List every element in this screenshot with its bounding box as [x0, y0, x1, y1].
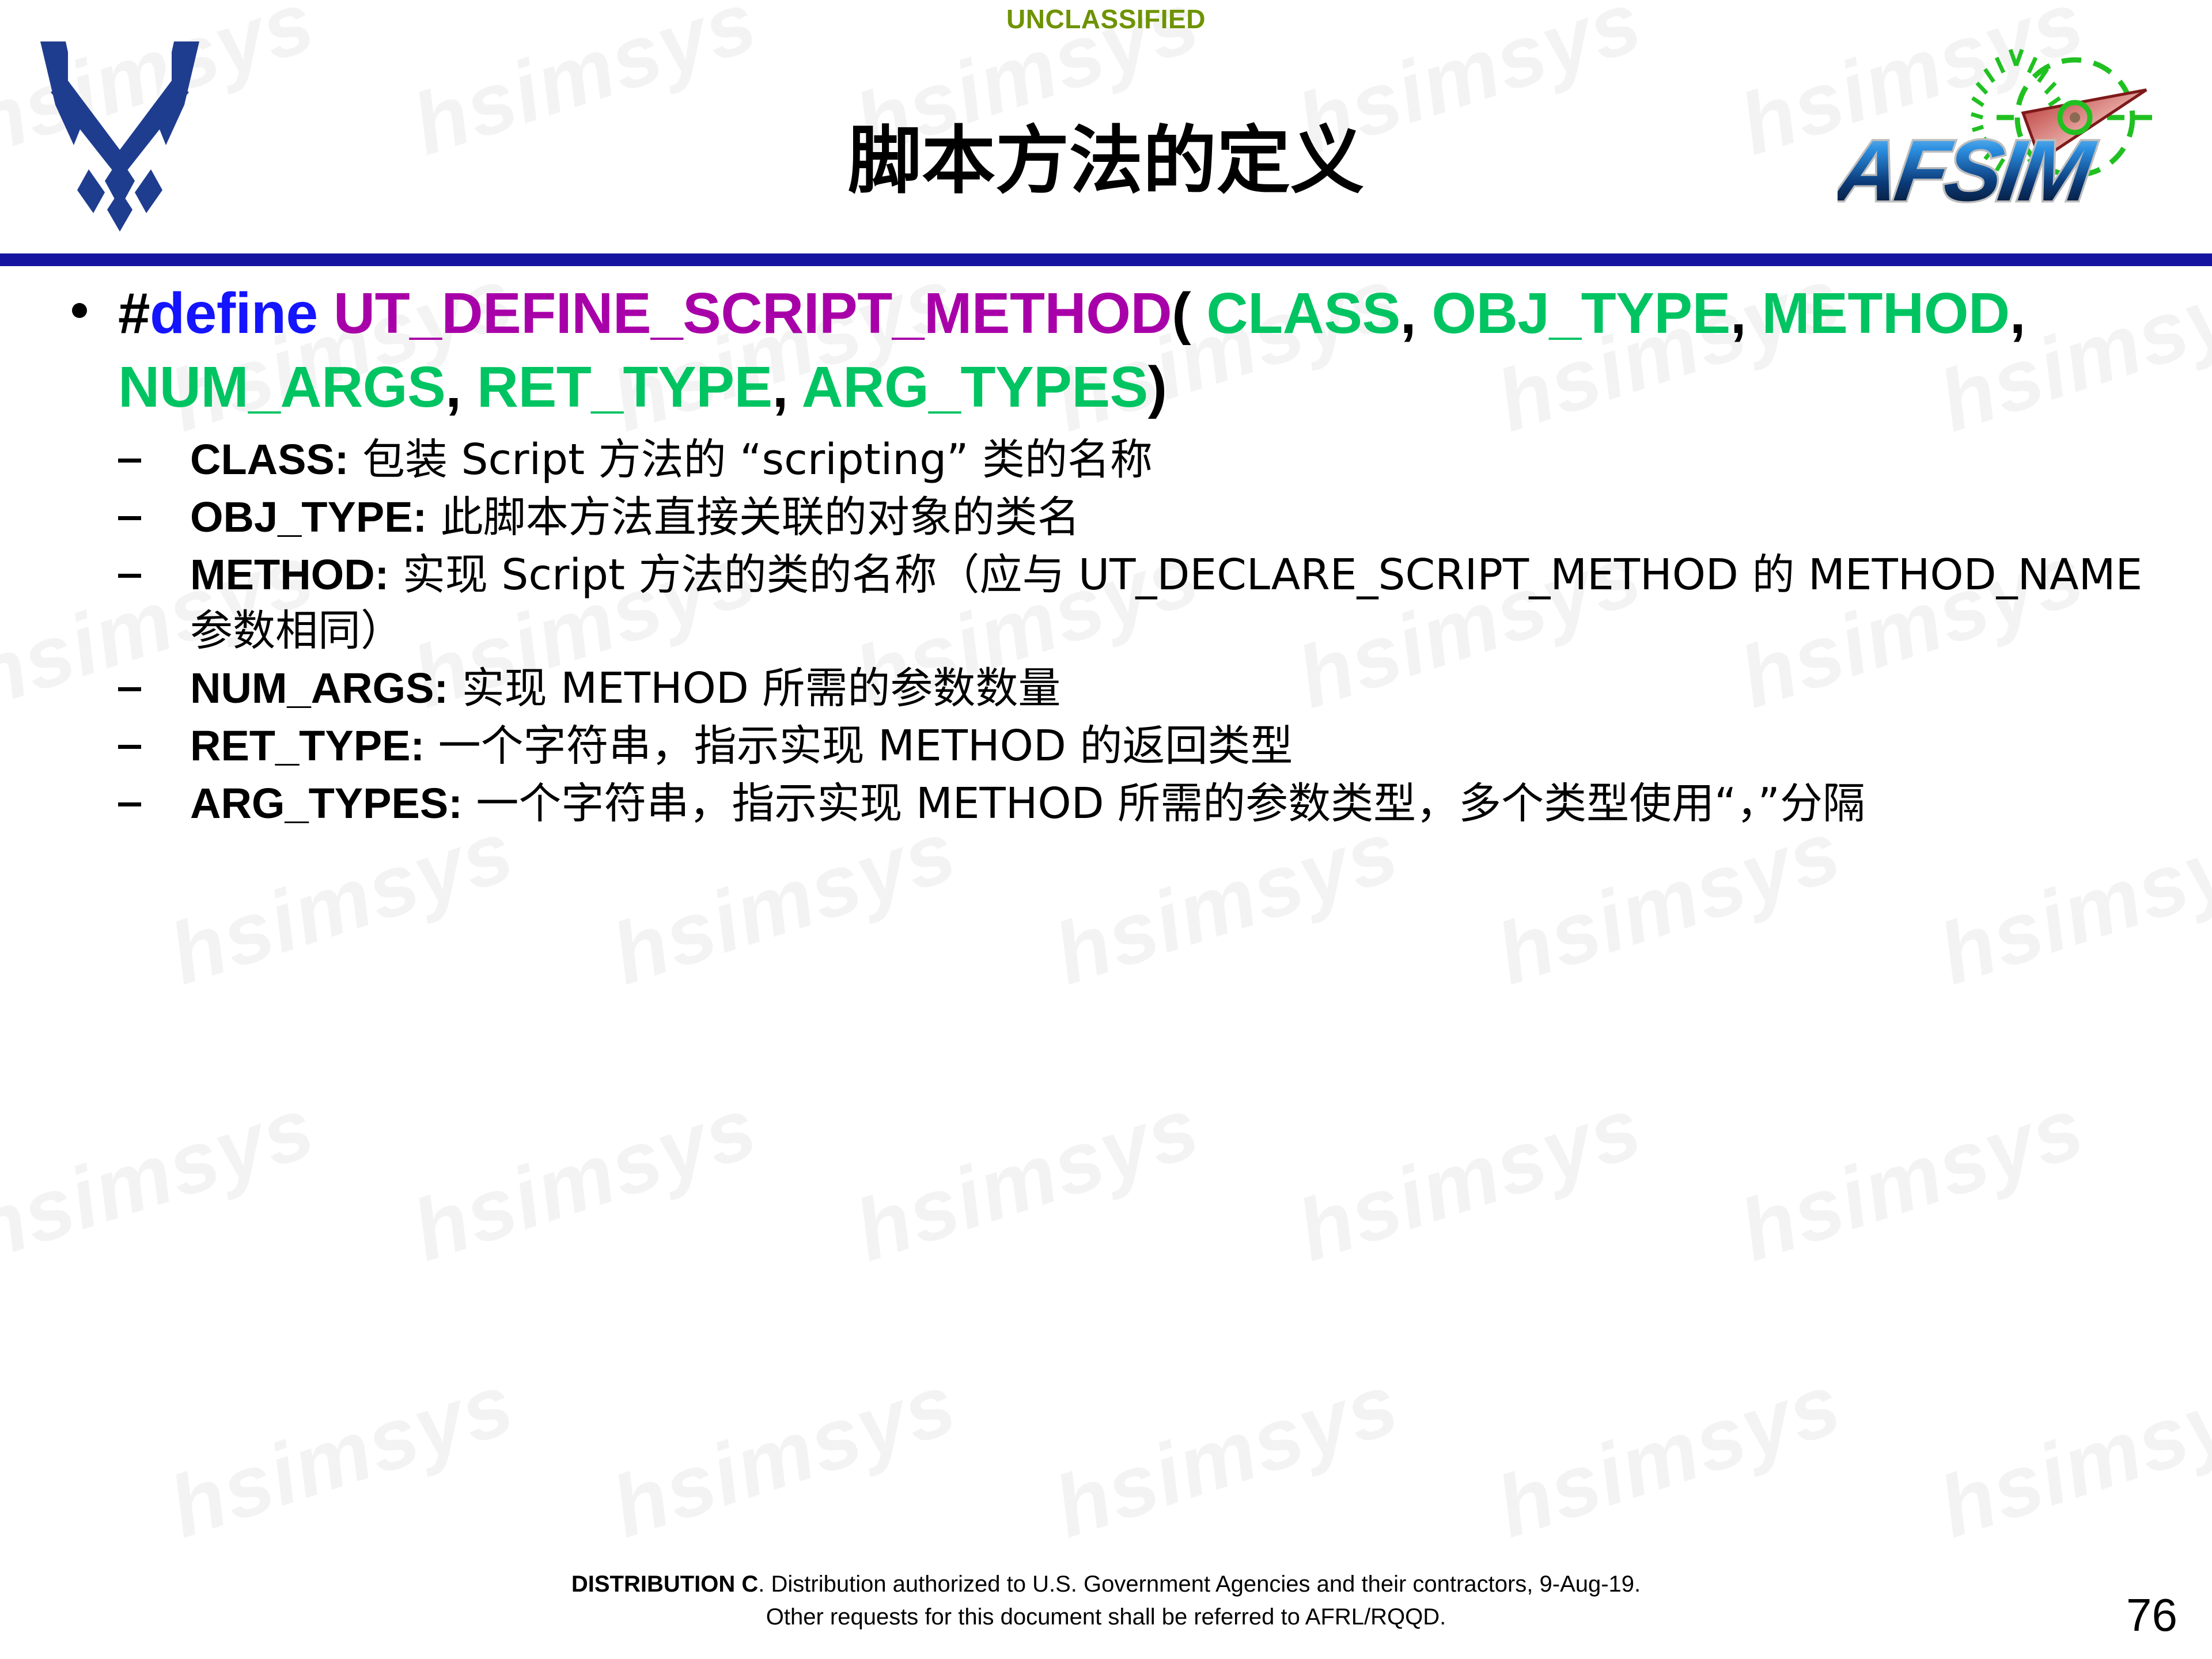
dash-bullet-icon: [118, 687, 141, 691]
afsim-logo-icon: AFSIM: [1838, 16, 2195, 229]
watermark-text: hsimsys: [0, 1077, 326, 1281]
parameter-list: CLASS: 包装 Script 方法的 “scripting” 类的名称 OB…: [0, 432, 2212, 831]
macro-comma-2: ,: [2010, 281, 2025, 346]
macro-arg-obj-type: OBJ_TYPE: [1431, 281, 1730, 346]
param-term: RET_TYPE: [190, 722, 410, 770]
watermark-text: hsimsys: [158, 1353, 525, 1557]
dash-bullet-icon: [118, 459, 141, 463]
distribution-line-2: Other requests for this document shall b…: [0, 1601, 2212, 1634]
param-separator: :: [413, 493, 427, 541]
dash-bullet-icon: [118, 574, 141, 578]
macro-comma-3: ,: [445, 355, 461, 419]
param-term: CLASS: [190, 435, 335, 483]
param-term: METHOD: [190, 551, 375, 599]
page-number: 76: [2126, 1589, 2177, 1642]
distribution-text: . Distribution authorized to U.S. Govern…: [758, 1571, 1641, 1597]
distribution-statement: DISTRIBUTION C. Distribution authorized …: [0, 1568, 2212, 1634]
macro-arg-method: METHOD: [1762, 281, 2009, 346]
define-macro-line: #define UT_DEFINE_SCRIPT_METHOD( CLASS, …: [55, 276, 2212, 424]
list-item: RET_TYPE: 一个字符串，指示实现 METHOD 的返回类型: [0, 718, 2212, 774]
param-separator: :: [375, 551, 389, 599]
list-item: METHOD: 实现 Script 方法的类的名称（应与 UT_DECLARE_…: [0, 547, 2212, 658]
macro-arg-ret-type: RET_TYPE: [477, 355, 772, 419]
define-keyword: define: [150, 281, 317, 346]
hash-token: #: [118, 281, 150, 346]
distribution-line-1: DISTRIBUTION C. Distribution authorized …: [0, 1568, 2212, 1601]
param-description: 此脚本方法直接关联的对象的类名: [441, 493, 1080, 542]
distribution-label: DISTRIBUTION C: [571, 1571, 758, 1597]
watermark-text: hsimsys: [1927, 1353, 2212, 1557]
macro-comma-0: ,: [1400, 281, 1416, 346]
param-description: 包装 Script 方法的 “scripting” 类的名称: [362, 435, 1153, 484]
watermark-text: hsimsys: [1728, 1077, 2096, 1281]
dash-bullet-icon: [118, 802, 141, 806]
close-paren: ): [1148, 355, 1167, 419]
slide-body: #define UT_DEFINE_SCRIPT_METHOD( CLASS, …: [0, 276, 2212, 834]
macro-comma-4: ,: [772, 355, 788, 419]
list-item: OBJ_TYPE: 此脚本方法直接关联的对象的类名: [0, 490, 2212, 545]
macro-name: UT_DEFINE_SCRIPT_METHOD: [334, 281, 1172, 346]
dash-bullet-icon: [118, 516, 141, 520]
svg-text:AFSIM: AFSIM: [1838, 123, 2101, 219]
watermark-text: hsimsys: [1043, 1353, 1410, 1557]
title-divider: [0, 253, 2212, 266]
open-paren: (: [1172, 281, 1191, 346]
param-separator: :: [335, 435, 349, 483]
dash-bullet-icon: [118, 745, 141, 749]
us-air-force-logo-icon: [33, 36, 206, 232]
param-description: 实现 Script 方法的类的名称（应与 UT_DECLARE_SCRIPT_M…: [190, 550, 2142, 655]
watermark-text: hsimsys: [1485, 1353, 1853, 1557]
macro-arg-arg-types: ARG_TYPES: [802, 355, 1148, 419]
param-separator: :: [410, 722, 425, 770]
watermark-text: hsimsys: [843, 1077, 1211, 1281]
param-term: OBJ_TYPE: [190, 493, 413, 541]
param-separator: :: [434, 664, 448, 712]
macro-arg-num-args: NUM_ARGS: [118, 355, 445, 419]
param-term: ARG_TYPES: [190, 779, 448, 827]
bullet-dot-icon: [72, 303, 87, 318]
param-separator: :: [448, 779, 463, 827]
macro-comma-1: ,: [1730, 281, 1746, 346]
list-item: CLASS: 包装 Script 方法的 “scripting” 类的名称: [0, 432, 2212, 487]
param-description: 一个字符串，指示实现 METHOD 的返回类型: [438, 721, 1293, 771]
watermark-text: hsimsys: [1286, 1077, 1653, 1281]
param-description: 实现 METHOD 所需的参数数量: [462, 664, 1061, 713]
param-description: 一个字符串，指示实现 METHOD 所需的参数类型，多个类型使用“，”分隔: [476, 779, 1865, 828]
param-term: NUM_ARGS: [190, 664, 434, 712]
watermark-text: hsimsys: [401, 1077, 768, 1281]
list-item: NUM_ARGS: 实现 METHOD 所需的参数数量: [0, 661, 2212, 716]
list-item: ARG_TYPES: 一个字符串，指示实现 METHOD 所需的参数类型，多个类…: [0, 776, 2212, 831]
watermark-text: hsimsys: [600, 1353, 968, 1557]
macro-arg-class: CLASS: [1206, 281, 1400, 346]
